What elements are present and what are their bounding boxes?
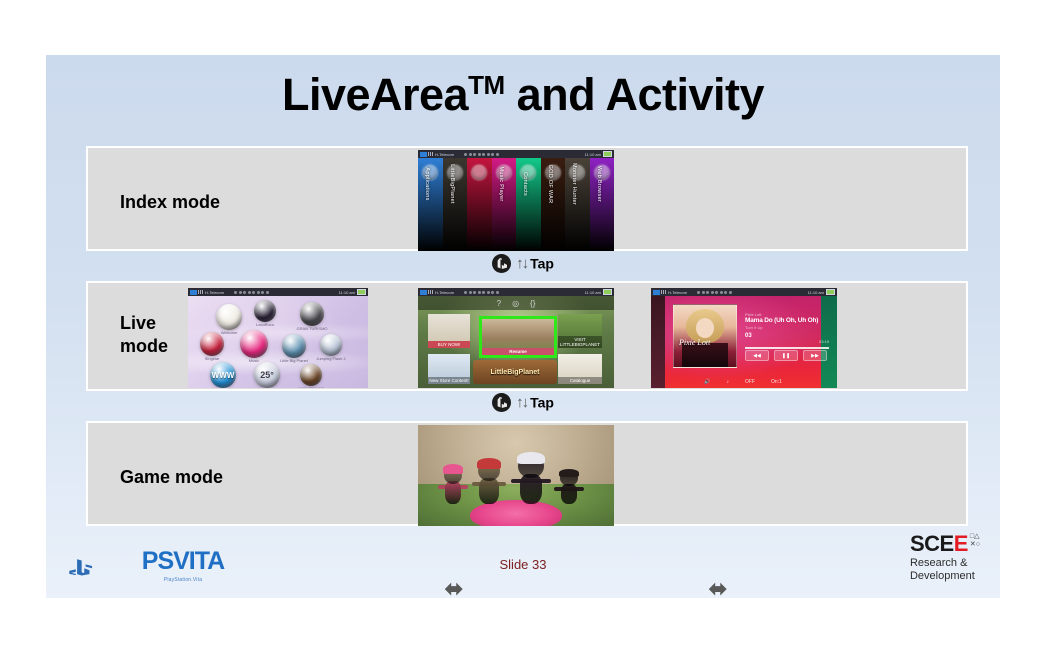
app-bubble-list: WelcomeLocoRocoGRAN TURISMOSingstarMusic… — [188, 288, 368, 388]
scee-subtitle-line1: Research & — [910, 557, 980, 569]
bars-icon — [661, 290, 667, 294]
screen-livearea-lbp[interactable]: H-Telecom 11:10 am ? ◎ {} BUY NOW! VISIT — [418, 288, 614, 388]
progress-bar[interactable] — [745, 347, 829, 349]
gate-caption: BUY NOW! — [428, 341, 470, 348]
scee-logo: SCEE □△ ✕○ Research & Development — [910, 533, 980, 582]
clock-label: 11:10 am — [585, 152, 601, 157]
index-panel-label: Web Browser — [596, 166, 602, 202]
page-title: LiveAreaTM and Activity — [46, 69, 1000, 121]
slide-footer: PSVITA PlayStation.Vita Slide 33 SCEE □△… — [46, 538, 1000, 598]
app-bubble-music[interactable]: Music — [240, 330, 268, 358]
character-body — [479, 478, 499, 504]
app-bubble-label: Little Big Planet — [280, 358, 308, 363]
character-hat — [477, 458, 501, 469]
livearea-gate-visit[interactable]: VISIT LITTLEBIGPLANET — [558, 314, 602, 348]
screen-livearea-music[interactable]: H-Telecom 11:10 am Pixie Lott Pixie Lott… — [651, 288, 837, 388]
screen-index-mode[interactable]: H-Telecom 11:10 am ApplicationsLittleBig… — [418, 150, 614, 251]
up-down-arrows-icon: ↑↓ — [516, 255, 527, 272]
index-panel-web-browser[interactable]: Web Browser — [590, 158, 615, 251]
row-game-mode: Game mode — [86, 421, 968, 526]
transition-label: Tap — [530, 256, 554, 272]
character-hat — [517, 452, 545, 464]
battery-icon — [357, 289, 366, 295]
settings-icon[interactable]: ◎ — [512, 299, 519, 308]
trademark-symbol: TM — [468, 70, 505, 100]
character-hat — [559, 469, 579, 477]
status-dots — [464, 291, 499, 294]
symbols-bottom: ✕○ — [970, 541, 980, 549]
game-title-logo: LittleBigPlanet — [473, 360, 557, 384]
bars-icon — [428, 152, 434, 156]
row-label-index-mode: Index mode — [120, 191, 220, 214]
status-dots — [234, 291, 269, 294]
scee-subtitle-line2: Development — [910, 570, 980, 582]
app-bubble-label: Jumping Flash 2 — [316, 356, 345, 361]
index-panel-label: Contacts — [522, 172, 528, 196]
vita-status-bar: H-Telecom 11:10 am — [651, 288, 837, 296]
index-panel-label: Music Player — [498, 166, 504, 201]
status-dots — [697, 291, 732, 294]
index-panel-applications[interactable]: Applications — [418, 158, 443, 251]
row-label-live-mode: Live mode — [120, 312, 168, 357]
scee-subtitle: Research & Development — [910, 557, 980, 582]
character-sackgirl-pink — [442, 466, 464, 504]
character-sackboy-red-hood — [476, 460, 502, 504]
character-hat — [443, 464, 463, 473]
transition-tap-live-to-game: ↑↓Tap — [46, 393, 1000, 412]
index-panel-monster-hunter[interactable]: Monster Hunter — [565, 158, 590, 251]
note-icon[interactable]: ♪ — [726, 379, 729, 385]
scee-wordmark: SCEE — [910, 533, 968, 555]
status-left: H-Telecom — [418, 290, 454, 295]
refresh-icon[interactable]: {} — [530, 299, 535, 308]
gate-caption: Catalogue — [558, 377, 602, 384]
album-artwork: Pixie Lott — [673, 304, 737, 368]
character-sackboy-helmet — [516, 454, 546, 504]
livearea-gate-promo[interactable]: BUY NOW! — [428, 314, 470, 348]
carrier-label: H-Telecom — [668, 290, 687, 295]
slide-number: Slide 33 — [46, 557, 1000, 572]
index-panel-label: Monster Hunter — [571, 163, 577, 205]
artwork-face — [696, 318, 714, 338]
help-icon[interactable]: ? — [497, 299, 501, 308]
album-title-label: Turn It Up — [745, 325, 829, 330]
signal-icon — [420, 290, 427, 295]
shuffle-icon[interactable]: On:1 — [771, 379, 782, 385]
index-panel-contacts[interactable]: Contacts — [516, 158, 541, 251]
scee-wordmark-a: SCE — [910, 531, 954, 556]
livearea-gate-catalogue[interactable]: Catalogue — [558, 354, 602, 384]
gate-caption: Resume — [482, 348, 554, 355]
ps-vita-logo-sub: PlayStation.Vita — [128, 577, 238, 583]
character-body — [520, 474, 543, 504]
character-body — [445, 481, 462, 504]
vita-status-bar: H-Telecom 11:10 am — [188, 288, 368, 296]
status-dots — [464, 153, 499, 156]
vita-status-bar: H-Telecom 11:10 am — [418, 288, 614, 296]
app-bubble-label: Welcome — [221, 330, 238, 335]
status-right: 11:10 am — [585, 289, 614, 295]
app-bubble-locoroco[interactable]: LocoRoco — [254, 300, 276, 322]
scee-wordmark-b: E — [954, 531, 968, 556]
row-label-game-mode: Game mode — [120, 466, 223, 489]
index-panel-icon — [472, 165, 487, 180]
app-bubble-label: GRAN TURISMO — [296, 326, 327, 331]
next-button[interactable]: ▶▶ — [803, 350, 827, 361]
app-bubble-label: Singstar — [205, 356, 220, 361]
index-panel-label: Applications — [424, 167, 430, 200]
index-panel-label: GOD OF WAR — [547, 165, 553, 204]
previous-button[interactable]: ◀◀ — [745, 350, 769, 361]
app-bubble-god-of-war[interactable]: GOD OF WAR — [300, 364, 322, 386]
playback-controls: ◀◀ ❚❚ ▶▶ — [745, 350, 827, 361]
signal-icon — [420, 152, 427, 157]
signal-icon — [653, 290, 660, 295]
signal-icon — [190, 290, 197, 295]
symbols-top: □△ — [970, 533, 980, 541]
track-title-label: Mama Do (Uh Oh, Uh Oh) — [745, 317, 829, 324]
app-bubble-welcome[interactable]: Welcome — [216, 304, 242, 330]
row-index-mode: Index mode H-Telecom 11:10 am Applicatio… — [86, 146, 968, 251]
status-right: 11:10 am — [339, 289, 368, 295]
screen-live-home[interactable]: H-Telecom 11:10 am WelcomeLocoRocoGRAN T… — [188, 288, 368, 388]
clock-label: 11:10 am — [585, 290, 601, 295]
playstation-logo-icon — [492, 254, 511, 273]
livearea-gate-store[interactable]: New Store Content! — [428, 354, 470, 384]
livearea-gate-resume-highlighted[interactable]: Resume — [479, 316, 557, 358]
clock-label: 11:10 am — [808, 290, 824, 295]
bars-icon — [198, 290, 204, 294]
up-down-arrows-icon: ↑↓ — [516, 394, 527, 411]
app-bubble-weather[interactable]: Weather25° — [254, 362, 280, 388]
browser-www-label: WWW — [210, 362, 236, 388]
bars-icon — [428, 290, 434, 294]
battery-icon — [826, 289, 835, 295]
carrier-label: H-Telecom — [435, 290, 454, 295]
status-right: 11:10 am — [585, 151, 614, 157]
scee-logo-top: SCEE □△ ✕○ — [910, 533, 980, 555]
app-bubble-jumping-flash-2[interactable]: Jumping Flash 2 — [320, 334, 342, 356]
app-bubble-label: LocoRoco — [256, 322, 274, 327]
page-title-main: LiveArea — [282, 69, 468, 120]
character-sackboy-dark — [558, 470, 580, 504]
index-panel-music-player[interactable]: Music Player — [492, 158, 517, 251]
status-right: 11:10 am — [808, 289, 837, 295]
gate-caption: New Store Content! — [428, 377, 470, 384]
row-live-mode: Live mode H-Telecom 11:10 am Welc — [86, 281, 968, 391]
page-title-rest: and Activity — [505, 69, 764, 120]
index-panel-list: ApplicationsLittleBigPlanetMusic PlayerC… — [418, 158, 614, 251]
presentation-slide: LiveAreaTM and Activity Index mode H-Tel… — [46, 55, 1000, 598]
playstation-symbols-icon: □△ ✕○ — [970, 533, 980, 549]
battery-icon — [603, 151, 612, 157]
now-playing-info: Pixie Lott Mama Do (Uh Oh, Uh Oh) Turn I… — [745, 312, 829, 339]
character-body — [561, 484, 578, 504]
status-left: H-Telecom — [418, 152, 454, 157]
track-time-label: 03:19 — [819, 339, 829, 344]
screen-game-mode[interactable] — [418, 425, 614, 526]
track-number-label: 03 — [745, 333, 829, 339]
repeat-icon[interactable]: OFF — [745, 379, 755, 385]
music-bottom-bar: 🔊 ♪ OFF On:1 — [665, 375, 821, 388]
status-left: H-Telecom — [651, 290, 687, 295]
app-bubble-label: GOD OF WAR — [298, 386, 324, 388]
clock-label: 11:10 am — [339, 290, 355, 295]
battery-icon — [603, 289, 612, 295]
transition-label: Tap — [530, 395, 554, 411]
transition-tap-index-to-live: ↑↓Tap — [46, 254, 1000, 273]
artwork-signature: Pixie Lott — [679, 338, 733, 347]
index-panel-item-2[interactable] — [467, 158, 492, 251]
app-bubble-singstar[interactable]: Singstar — [200, 332, 224, 356]
gate-caption: VISIT LITTLEBIGPLANET — [558, 336, 602, 348]
vita-status-bar: H-Telecom 11:10 am — [418, 150, 614, 158]
pause-button[interactable]: ❚❚ — [774, 350, 798, 361]
carrier-label: H-Telecom — [205, 290, 224, 295]
row-label-live-line1: Live — [120, 312, 168, 335]
volume-icon[interactable]: 🔊 — [704, 379, 710, 385]
app-bubble-gran-turismo[interactable]: GRAN TURISMO — [300, 302, 324, 326]
livearea-toolbar: ? ◎ {} — [418, 296, 614, 310]
app-bubble-browser[interactable]: BrowserWWW — [210, 362, 236, 388]
status-left: H-Telecom — [188, 290, 224, 295]
index-panel-littlebigplanet[interactable]: LittleBigPlanet — [443, 158, 468, 251]
playstation-logo-icon — [492, 393, 511, 412]
index-panel-god-of-war[interactable]: GOD OF WAR — [541, 158, 566, 251]
row-label-live-line2: mode — [120, 335, 168, 358]
app-bubble-little-big-planet[interactable]: Little Big Planet — [282, 334, 306, 358]
index-panel-label: LittleBigPlanet — [449, 164, 455, 204]
weather-temperature-label: 25° — [254, 362, 280, 388]
carrier-label: H-Telecom — [435, 152, 454, 157]
